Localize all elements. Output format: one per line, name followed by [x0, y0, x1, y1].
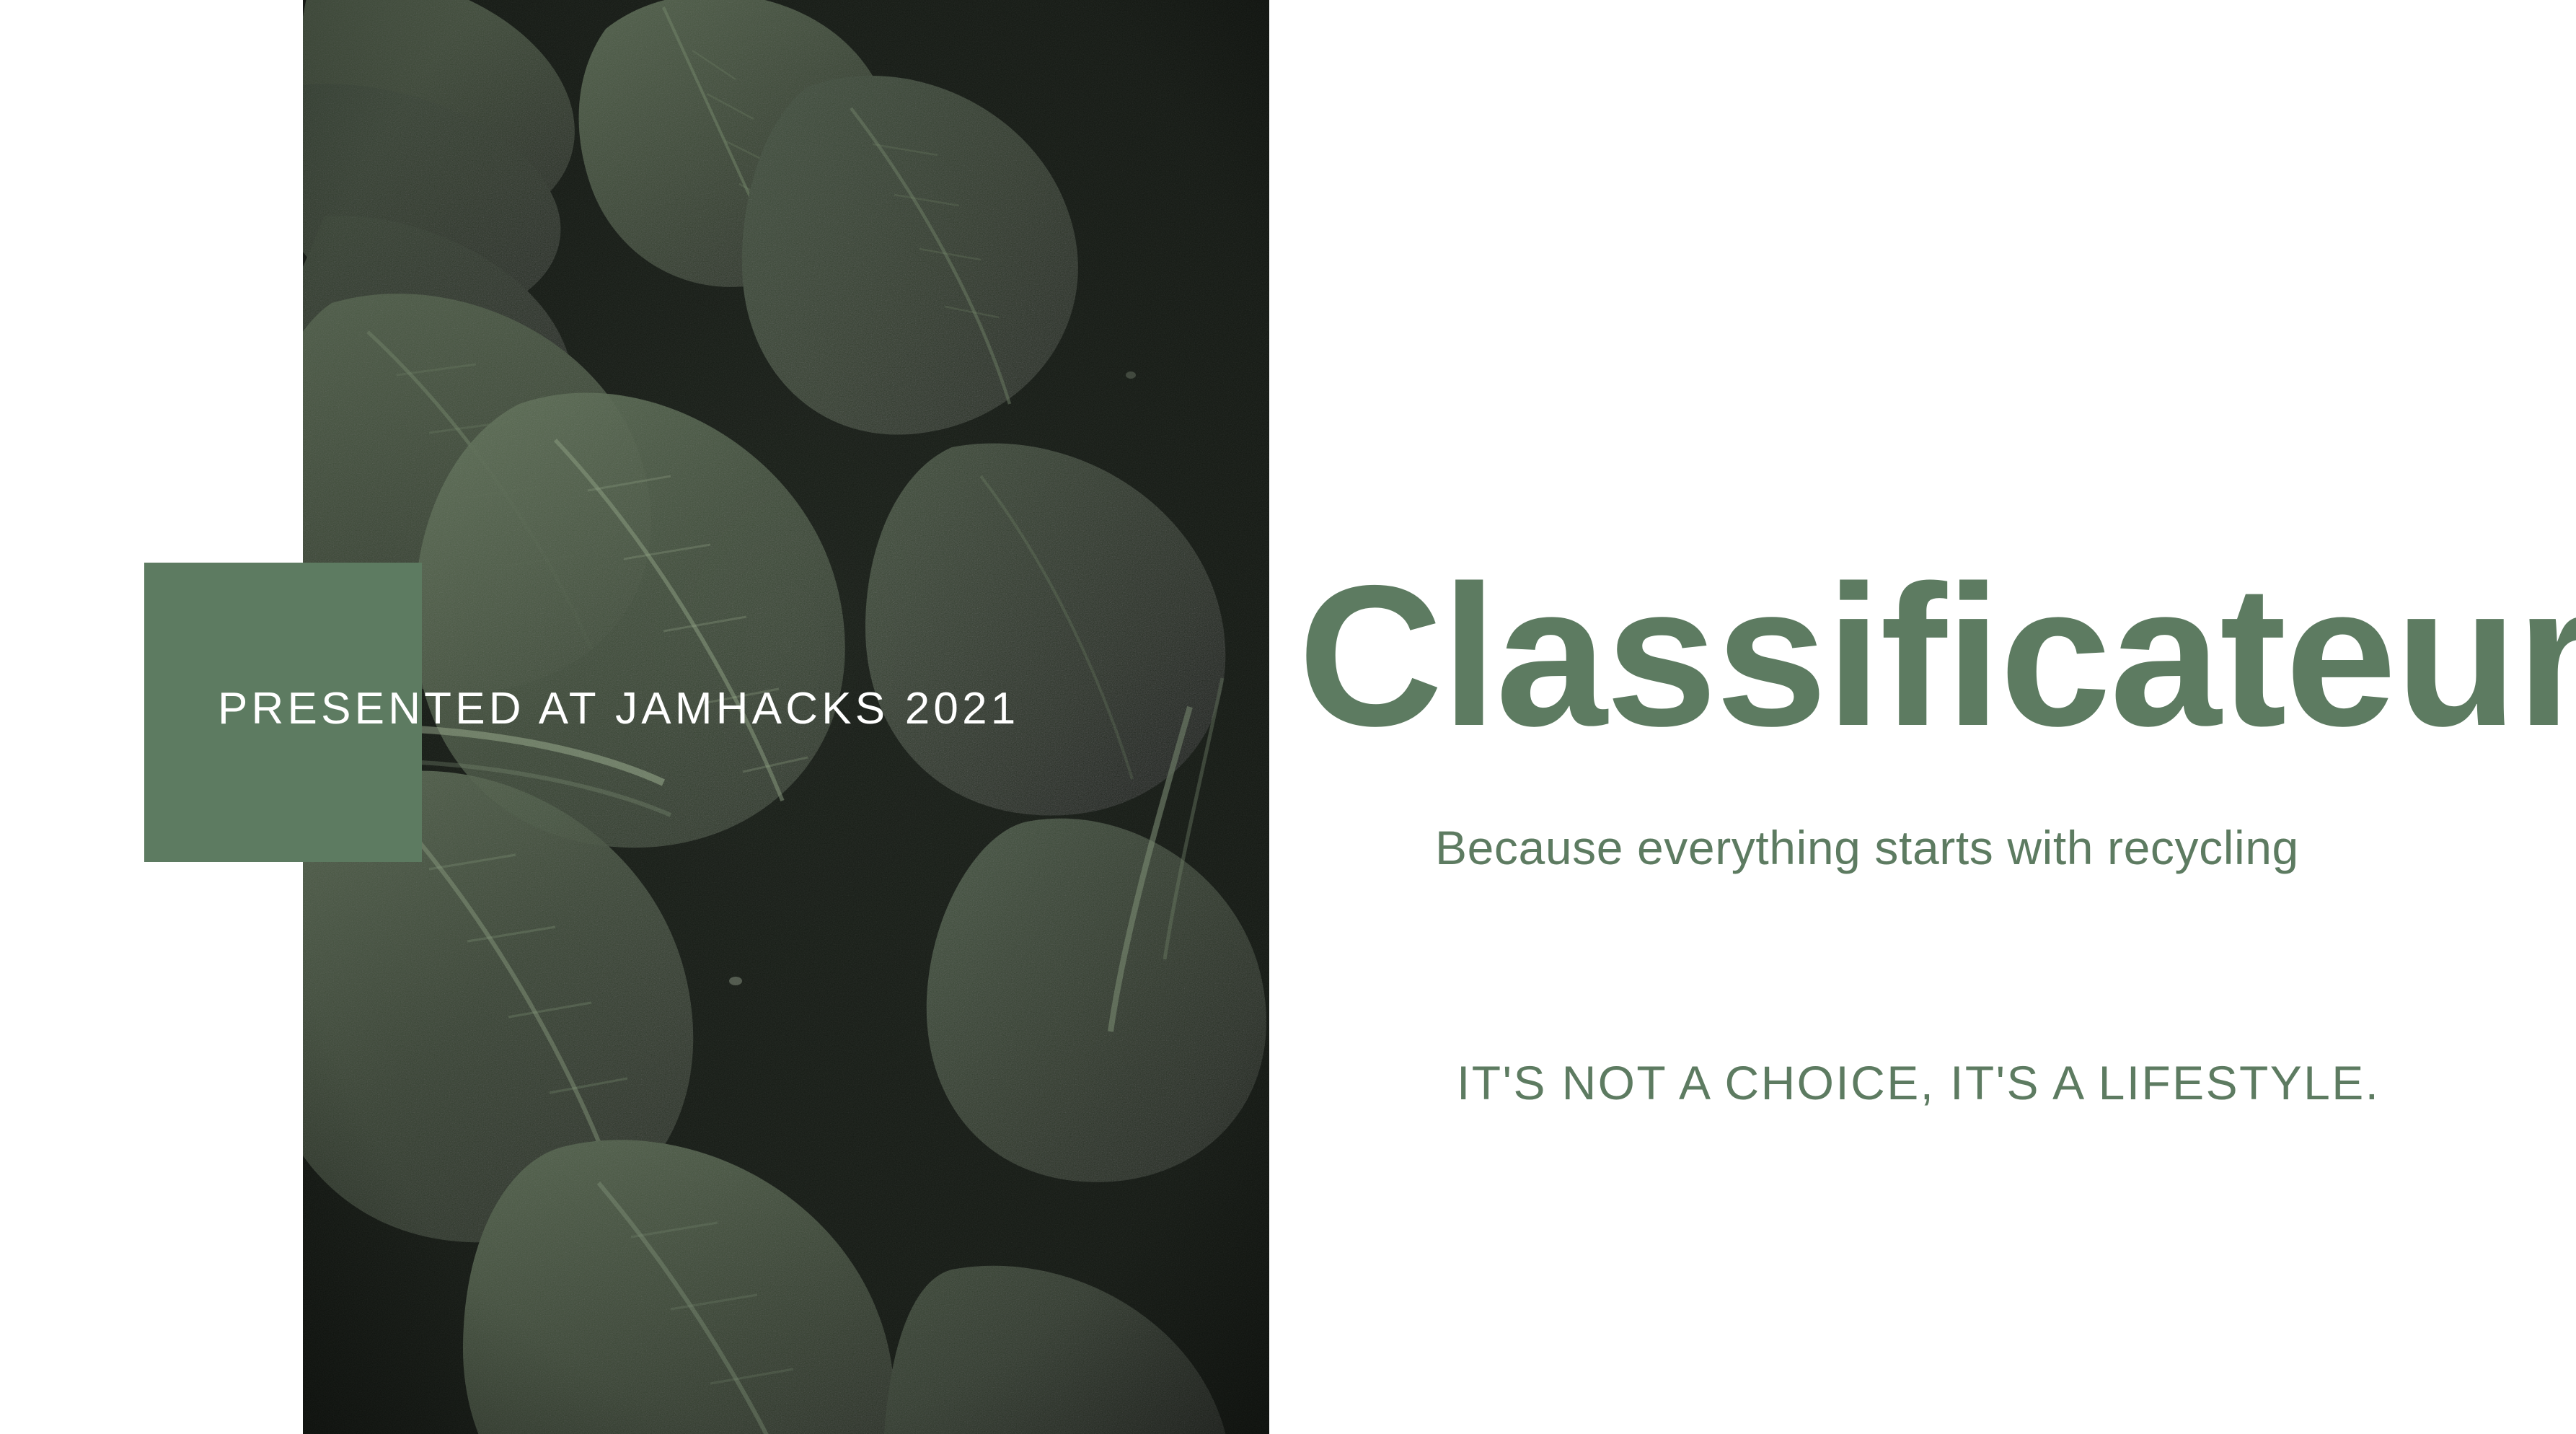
slide-text-block: Classificateur Because everything starts… [1298, 0, 2576, 1434]
slide-subtitle: Because everything starts with recycling [1435, 824, 2299, 871]
slide-title: Classificateur [1298, 555, 2576, 756]
slide-caption: PRESENTED AT JAMHACKS 2021 [218, 687, 1019, 731]
presentation-slide: PRESENTED AT JAMHACKS 2021 Classificateu… [0, 0, 2576, 1434]
slide-tagline: IT'S NOT A CHOICE, IT'S A LIFESTYLE. [1457, 1059, 2380, 1107]
